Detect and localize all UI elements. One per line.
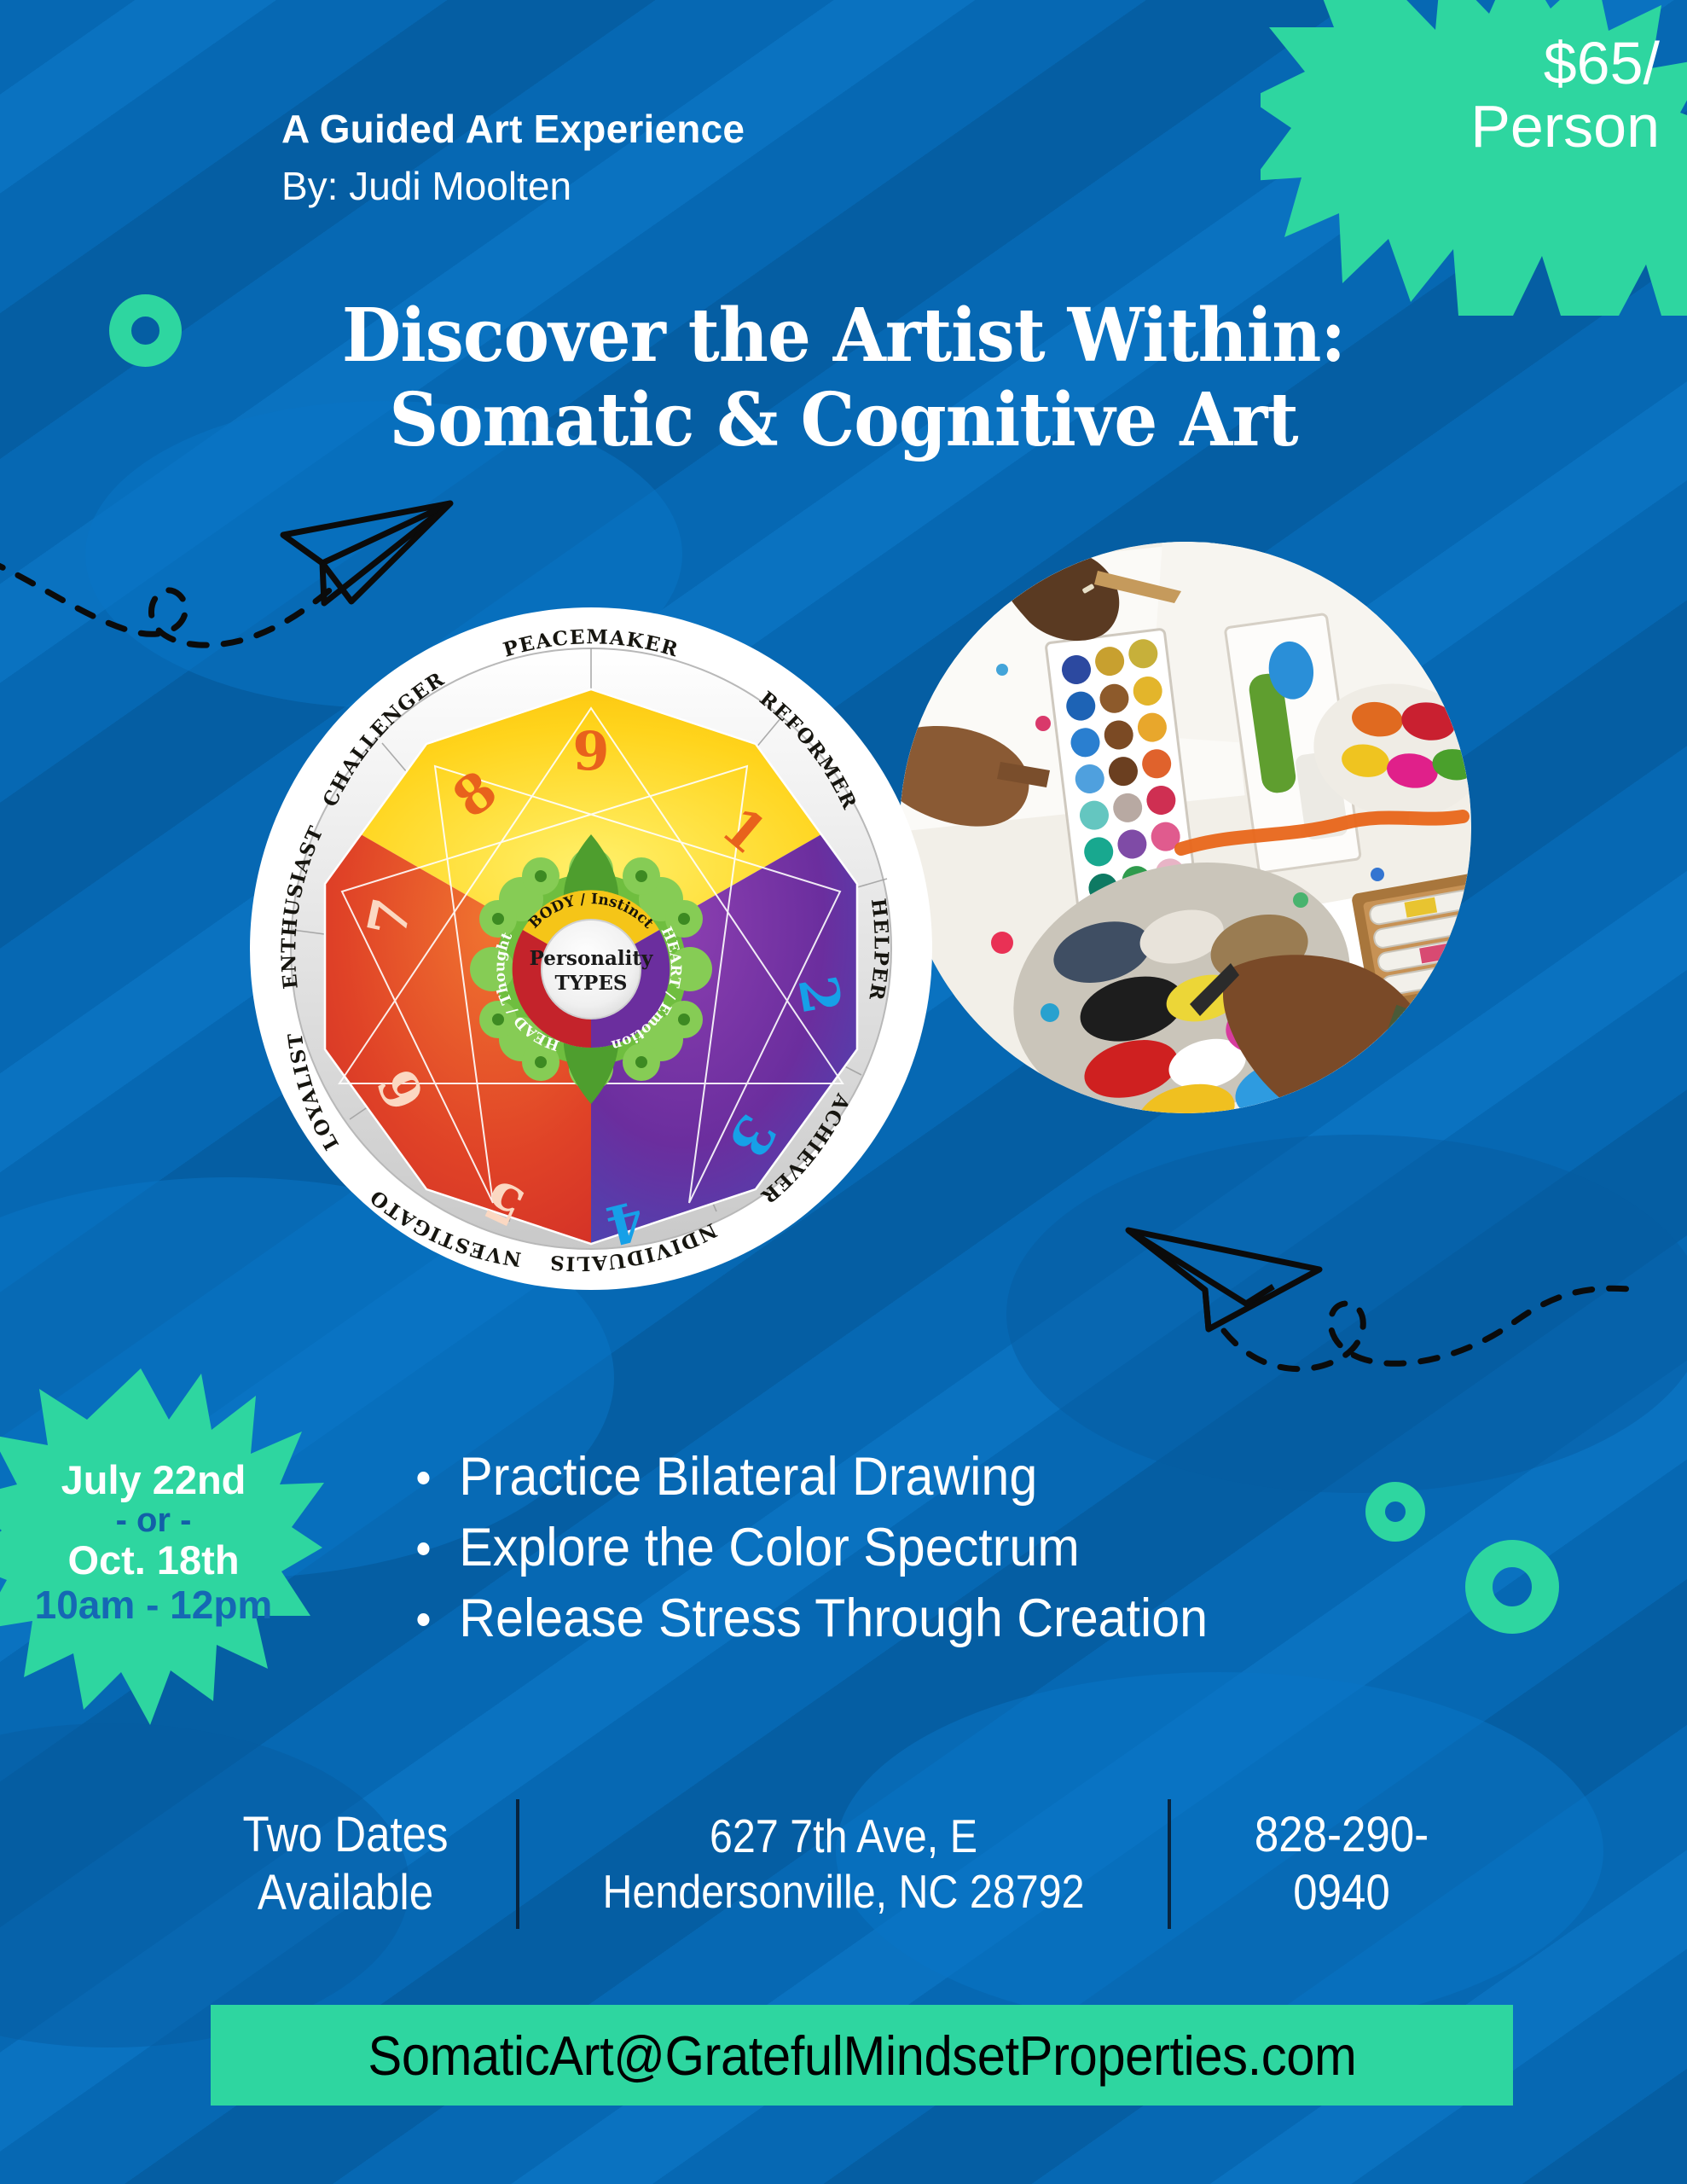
footer-address: 627 7th Ave, E Hendersonville, NC 28792 — [559, 1809, 1129, 1920]
decorative-ring-small-right — [1365, 1482, 1425, 1542]
phone-line-2: 0940 — [1191, 1864, 1492, 1922]
price-unit: Person — [1470, 93, 1660, 160]
availability-line-1: Two Dates — [195, 1806, 496, 1864]
price-badge-text: $65/ Person — [1301, 32, 1660, 158]
paper-airplane-icon-right — [1096, 1194, 1642, 1425]
enneagram-number-9: 9 — [572, 720, 609, 782]
footer-availability: Two Dates Available — [195, 1806, 496, 1923]
date-option-1: July 22nd — [0, 1459, 324, 1502]
enneagram-center-line-2: TYPES — [555, 972, 628, 995]
flyer-canvas: $65/ Person A Guided Art Experience By: … — [0, 0, 1687, 2184]
bullet-item-1: Practice Bilateral Drawing — [409, 1442, 1208, 1513]
date-option-2: Oct. 18th — [0, 1539, 324, 1583]
title-line-1: Discover the Artist Within: — [342, 293, 1345, 379]
footer-divider-1 — [516, 1799, 519, 1929]
phone-line-1: 828-290- — [1191, 1806, 1492, 1864]
date-time-range: 10am - 12pm — [0, 1584, 324, 1627]
title-line-2: Somatic & Cognitive Art — [59, 379, 1628, 463]
address-line-2: Hendersonville, NC 28792 — [559, 1864, 1129, 1920]
date-badge-text: July 22nd - or - Oct. 18th 10am - 12pm — [0, 1459, 324, 1626]
footer-info-row: Two Dates Available 627 7th Ave, E Hende… — [0, 1779, 1687, 1949]
enneagram-center-line-1: Personality — [530, 947, 653, 970]
date-separator: - or - — [0, 1502, 324, 1539]
date-badge: July 22nd - or - Oct. 18th 10am - 12pm — [0, 1363, 324, 1730]
availability-line-2: Available — [195, 1864, 496, 1922]
footer-phone[interactable]: 828-290- 0940 — [1191, 1806, 1492, 1923]
paper-airplane-icon-left — [0, 499, 461, 712]
email-contact-bar[interactable]: SomaticArt@GratefulMindsetProperties.com — [211, 2005, 1513, 2106]
bullet-item-2: Explore the Color Spectrum — [409, 1513, 1208, 1583]
kicker-text: A Guided Art Experience — [281, 109, 745, 148]
email-address: SomaticArt@GratefulMindsetProperties.com — [368, 2024, 1356, 2088]
bullet-item-3: Release Stress Through Creation — [409, 1583, 1208, 1654]
art-workshop-photo — [900, 542, 1471, 1113]
feature-bullet-list: Practice Bilateral Drawing Explore the C… — [409, 1442, 1259, 1654]
page-title: Discover the Artist Within: Somatic & Co… — [59, 294, 1628, 463]
address-line-1: 627 7th Ave, E — [559, 1809, 1129, 1864]
price-amount: $65/ — [1544, 30, 1660, 96]
decorative-ring-large-right — [1465, 1540, 1559, 1634]
byline-text: By: Judi Moolten — [281, 166, 571, 206]
footer-divider-2 — [1168, 1799, 1171, 1929]
